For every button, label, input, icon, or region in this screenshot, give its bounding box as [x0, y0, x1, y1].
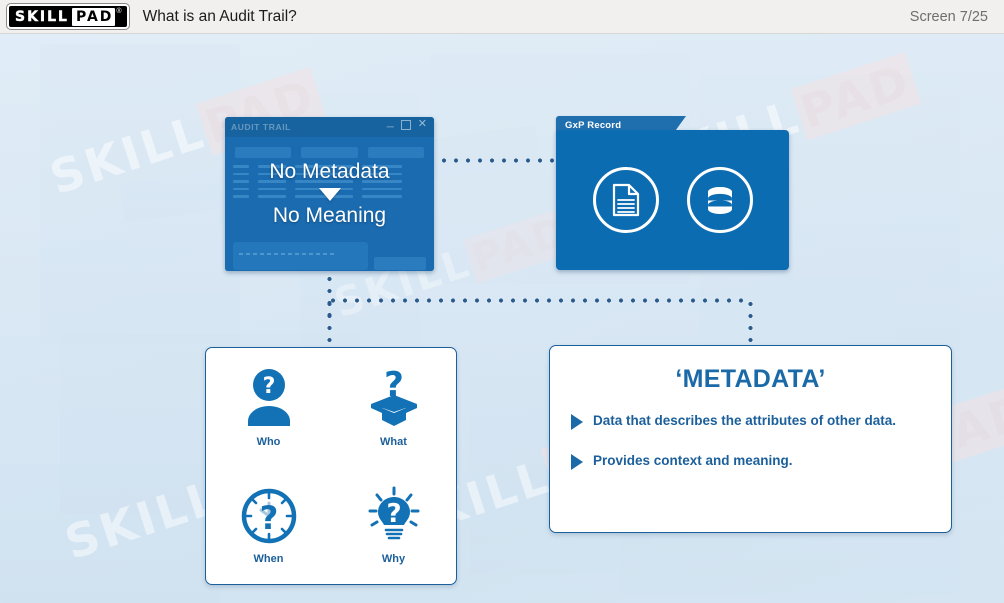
logo-skill-text: SKILL [15, 10, 69, 24]
document-icon [593, 167, 659, 233]
page-header: SKILL PAD ® What is an Audit Trail? Scre… [0, 0, 1004, 34]
lightbulb-question-icon: ? [363, 485, 425, 547]
who-label: Who [257, 436, 281, 448]
who-grid: ? Who ? What [206, 348, 456, 584]
svg-text:?: ? [386, 499, 401, 529]
list-item: Data that describes the attributes of ot… [571, 413, 951, 430]
who-cell-who: ? Who [206, 348, 331, 466]
triangle-bullet-icon [571, 414, 583, 430]
folder-body [556, 130, 789, 270]
overlay-line-2: No Meaning [273, 203, 386, 229]
logo-pad-text: PAD [72, 8, 115, 26]
metadata-bullet-list: Data that describes the attributes of ot… [571, 413, 951, 470]
when-label: When [254, 553, 284, 565]
bullet-text: Data that describes the attributes of ot… [593, 413, 896, 429]
who-cell-why: ? Why [331, 466, 456, 584]
who-cell-when: ? When [206, 466, 331, 584]
skillpad-logo: SKILL PAD ® [7, 4, 129, 29]
gxp-record-folder[interactable]: GxP Record [556, 116, 789, 270]
logo-registered-icon: ® [116, 8, 121, 15]
metadata-title: ‘METADATA’ [550, 365, 951, 394]
no-metadata-overlay: No Metadata No Meaning [225, 117, 434, 271]
person-question-icon: ? [240, 366, 298, 430]
slide-stage: SKILLPAD SKILLPAD SKILLPAD SKILLPAD SKIL… [0, 34, 1004, 603]
svg-text:?: ? [262, 374, 275, 399]
why-label: Why [382, 553, 405, 565]
box-question-icon: ? [363, 366, 425, 430]
folder-tab-label: GxP Record [565, 120, 621, 131]
clock-question-icon: ? [238, 485, 300, 547]
what-label: What [380, 436, 407, 448]
list-item: Provides context and meaning. [571, 453, 951, 470]
metadata-panel: ‘METADATA’ Data that describes the attri… [549, 345, 952, 533]
triangle-bullet-icon [571, 454, 583, 470]
down-triangle-icon [319, 188, 341, 201]
who-what-when-why-panel: ? Who ? What [205, 347, 457, 585]
svg-text:?: ? [259, 499, 278, 537]
who-cell-what: ? What [331, 348, 456, 466]
bullet-text: Provides context and meaning. [593, 453, 793, 469]
audit-trail-window[interactable]: AUDIT TRAIL ─ ✕ [225, 117, 434, 271]
page-title: What is an Audit Trail? [143, 8, 297, 26]
database-icon [687, 167, 753, 233]
overlay-line-1: No Metadata [269, 159, 389, 185]
screen-counter: Screen 7/25 [910, 9, 988, 25]
slide-screen: SKILL PAD ® What is an Audit Trail? Scre… [0, 0, 1004, 603]
